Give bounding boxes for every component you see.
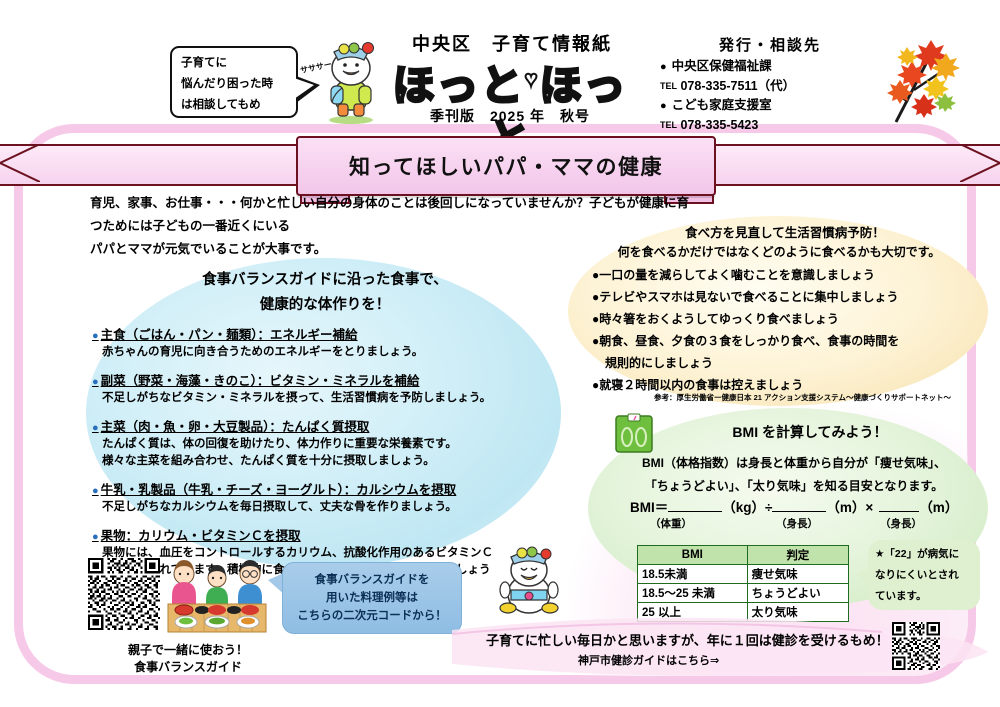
bmi-note-line-3: ています。 [875,586,980,607]
bmi-unit-m2: （m） [919,500,958,515]
pin-icon: ● [92,330,99,342]
balance-bubble-line-3: こちらの二次元コードから！ [297,607,447,625]
eating-habits-heading: 食べ方を見直して生活習慣病予防！ [600,222,970,241]
table-row: 18.5～25 未満 ちょうどよい [638,584,849,603]
footer-message: 子育てに忙しい毎日かと思いますが、年に１回は健診を受けるもめ！ [486,630,889,649]
bmi-height-blank-2[interactable] [879,511,919,512]
eating-habits-list: ●一口の量を減らしてよく噛むことを意識しましょう ●テレビやスマホは見ないで食べ… [592,264,982,396]
qr-code-health-checkup[interactable] [892,622,940,670]
food-item-desc-line: 赤ちゃんの育児に向き合うためのエネルギーをとりましょう。 [92,344,562,361]
family-meal-illustration [162,556,272,634]
bmi-table: BMI 判定 18.5未満 痩せ気味 18.5～25 未満 ちょうどよい 25 … [637,545,849,622]
column-header-judgement: 判定 [747,546,848,565]
bullet-icon: ● [660,61,667,73]
eating-habit-bullet-1: ●一口の量を減らしてよく噛むことを意識しましょう [592,264,982,286]
telephone-icon: TEL [660,81,677,91]
footer-qr-caption: 神戸市健診ガイドはこちら⇒ [578,652,719,668]
food-item-title: ●副菜（野菜・海藻・きのこ）：ビタミン・ミネラルを補給 [92,370,419,389]
mascot-speech-line-2: 悩んだり困った時 [181,74,296,95]
bmi-note-bubble: ★「22」が病気に なりにくいとされ ています。 [868,540,980,610]
bmi-label-height-2: （身長） [880,516,922,531]
eating-habit-bullet-4: ●朝食、昼食、夕食の３食をしっかり食べ、食事の時間を [592,330,982,352]
food-item-staple: ●主食（ごはん・パン・麺類）：エネルギー補給 赤ちゃんの育児に向き合うためのエネ… [92,324,562,361]
ribbon-notch-right [960,144,1000,182]
bmi-description-line-2: 「ちょうどよい」、「太り気味」を知る目安となります。 [608,475,980,498]
maple-branch-icon [880,38,960,128]
bmi-description: BMI（体格指数）は身長と体重から自分が「痩せ気味」、 「ちょうどよい」、「太り… [608,452,980,498]
newsletter-page: 子育てに 悩んだり困った時 は相談してもめ サササー 中央区 子育て情報紙 ほっ… [0,0,1000,707]
food-item-title-text: 主食（ごはん・パン・麺類）：エネルギー補給 [101,328,358,342]
food-item-desc-line: たんぱく質は、体の回復を助けたり、体力作りに重要な栄養素です。 [92,436,562,453]
food-item-title: ●主食（ごはん・パン・麺類）：エネルギー補給 [92,324,358,343]
contact-tel-1-number: 078-335-7511（代） [680,79,795,93]
food-guide-heading-line-2: 健康的な体作りを！ [110,293,540,318]
duck-mascot-sitting-icon [498,546,560,622]
food-item-desc-line: 不足しがちなカルシウムを毎日摂取して、丈夫な骨を作りましょう。 [92,499,562,516]
bullet-icon-2: ● [660,100,667,112]
weight-scale-icon [612,412,656,456]
food-item-title-text: 牛乳・乳製品（牛乳・チーズ・ヨーグルト）：カルシウムを摂取 [101,483,457,497]
food-item-title-text: 主菜（肉・魚・卵・大豆製品）：たんぱく質摂取 [101,420,370,434]
bmi-range-cell: 18.5～25 未満 [638,584,748,603]
food-item-title: ●牛乳・乳製品（牛乳・チーズ・ヨーグルト）：カルシウムを摂取 [92,479,456,498]
pin-icon: ● [92,485,99,497]
bmi-formula: BMI＝（kg）÷（m）×（m） [630,496,970,516]
contact-heading: 発行・相談先 [660,34,880,55]
speech-bubble-tail-fill [294,78,314,99]
qr-balance-caption-line-1: 親子で一緒に使おう！ [88,642,288,659]
food-item-main-dish: ●主菜（肉・魚・卵・大豆製品）：たんぱく質摂取 たんぱく質は、体の回復を助けたり… [92,416,562,470]
food-item-title-text: 果物：カリウム・ビタミンＣを摂取 [101,529,301,543]
mascot-speech-line-3: は相談してもめ [181,95,296,116]
edition-label: 季刊版 2025 年 秋号 [372,106,648,126]
bmi-unit-m1: （m）× [826,500,873,515]
food-item-desc-line: 不足しがちなビタミン・ミネラルを摂って、生活習慣病を予防しましょう。 [92,390,562,407]
eating-habit-bullet-3: ●時々箸をおくようしてゆっくり食べましょう [592,308,982,330]
bmi-label-weight: （体重） [650,516,692,531]
pin-icon: ● [92,376,99,388]
column-header-bmi: BMI [638,546,748,565]
logo-text-left: ほっと [392,62,524,109]
balance-guide-bubble: 食事バランスガイドを 用いた料理例等は こちらの二次元コードから！ [282,562,462,634]
balance-bubble-line-1: 食事バランスガイドを [297,571,447,589]
table-header-row: BMI 判定 [638,546,849,565]
contact-office-1-label: 中央区保健福祉課 [672,59,772,73]
telephone-icon-2: TEL [660,120,677,130]
balance-bubble-line-2: 用いた料理例等は [297,589,447,607]
bmi-unit-kg: （kg）÷ [722,500,772,515]
table-row: 18.5未満 痩せ気味 [638,565,849,584]
bmi-note-line-1: ★「22」が病気に [875,544,980,565]
food-guide-heading: 食事バランスガイドに沿った食事で、 健康的な体作りを！ [110,268,540,318]
eating-habit-bullet-2: ●テレビやスマホは見ないで食べることに集中しましょう [592,286,982,308]
food-item-title: ●主菜（肉・魚・卵・大豆製品）：たんぱく質摂取 [92,416,369,435]
contact-block: 発行・相談先 ●中央区保健福祉課 TEL 078-335-7511（代） ●こど… [660,34,880,135]
mascot-speech-line-1: 子育てに [181,53,296,74]
bmi-formula-prefix: BMI＝ [630,500,668,515]
food-item-title: ●果物：カリウム・ビタミンＣを摂取 [92,525,301,544]
food-item-title-text: 副菜（野菜・海藻・きのこ）：ビタミン・ミネラルを補給 [101,374,420,388]
bmi-judgement-cell: 痩せ気味 [747,565,848,584]
pin-icon: ● [92,531,99,543]
qr-balance-caption-line-2: 食事バランスガイド [88,659,288,676]
bmi-heading: BMI を計算してみよう！ [660,422,960,442]
contact-tel-1: TEL 078-335-7511（代） [660,77,880,96]
contact-office-2: ●こども家庭支援室 [660,96,880,116]
contact-office-1: ●中央区保健福祉課 [660,57,880,77]
bmi-description-line-1: BMI（体格指数）は身長と体重から自分が「痩せ気味」、 [608,452,980,475]
banner-title: 知ってほしいパパ・ママの健康 [296,136,716,196]
qr-balance-caption: 親子で一緒に使おう！ 食事バランスガイド [88,642,288,676]
bmi-range-cell: 18.5未満 [638,565,748,584]
mascot-speech-bubble: 子育てに 悩んだり困った時 は相談してもめ [170,46,298,118]
food-item-side-dish: ●副菜（野菜・海藻・きのこ）：ビタミン・ミネラルを補給 不足しがちなビタミン・ミ… [92,370,562,407]
eating-habits-citation: 参考：厚生労働省ー健康日本 21 アクション支援システム～健康づくりサポートネッ… [620,392,985,403]
bmi-height-blank-1[interactable] [772,511,826,512]
food-item-dairy: ●牛乳・乳製品（牛乳・チーズ・ヨーグルト）：カルシウムを摂取 不足しがちなカルシ… [92,479,562,516]
contact-tel-2-number: 078-335-5423 [680,118,758,132]
food-item-desc-line-2: 様々な主菜を組み合わせ、たんぱく質を十分に摂取しましょう。 [92,453,562,470]
bmi-weight-blank[interactable] [668,511,722,512]
food-guide-heading-line-1: 食事バランスガイドに沿った食事で、 [110,268,540,293]
bmi-label-height-1: （身長） [776,516,818,531]
pin-icon: ● [92,422,99,434]
food-guide-list: ●主食（ごはん・パン・麺類）：エネルギー補給 赤ちゃんの育児に向き合うためのエネ… [92,324,562,588]
section-banner: 知ってほしいパパ・ママの健康 [0,136,1000,194]
bmi-note-line-2: なりにくいとされ [875,565,980,586]
ribbon-notch-left [0,144,40,182]
contact-tel-2: TEL 078-335-5423 [660,116,880,135]
bmi-judgement-cell: ちょうどよい [747,584,848,603]
qr-code-balance-guide[interactable] [88,558,160,630]
heart-icon: ♥ [524,66,539,91]
contact-office-2-label: こども家庭支援室 [672,98,772,112]
eating-habits-lead: 何を食べるかだけではなくどのように食べるかも大切です。 [574,243,984,260]
eating-habit-bullet-4-cont: 規則的にしましょう [592,352,982,374]
